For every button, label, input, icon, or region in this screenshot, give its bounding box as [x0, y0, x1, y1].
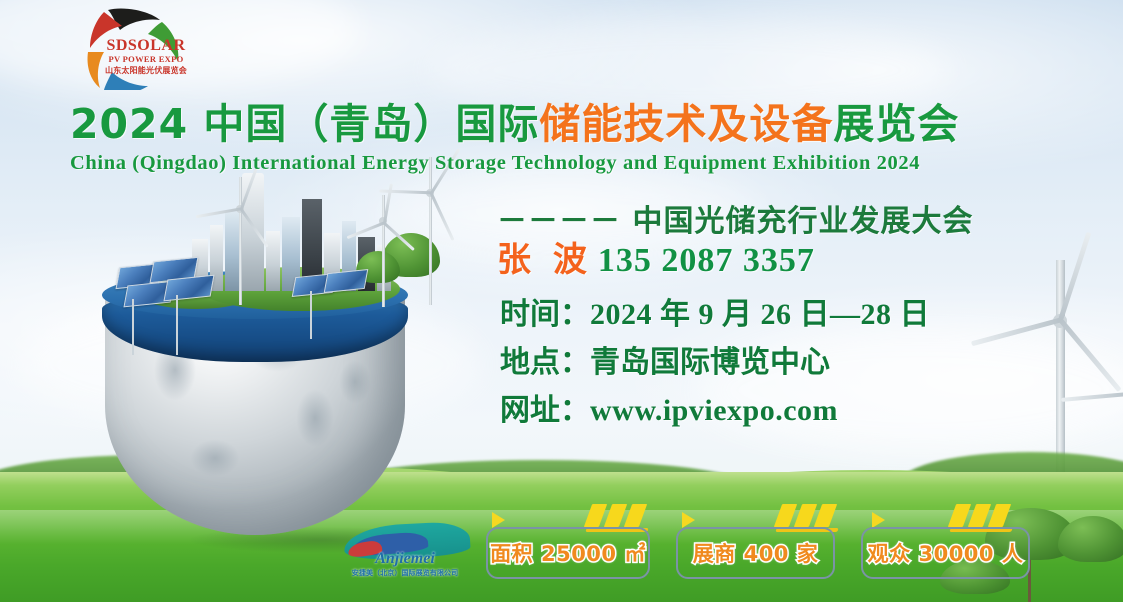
stat-badge-visitors-text: 观众 30000 人: [868, 538, 1024, 568]
anjiemei-logo-name: Anjiemei: [336, 550, 474, 568]
page-title: 2024 中国（青岛）国际储能技术及设备展览会: [70, 104, 959, 145]
sdsolar-logo-chinese: 山东太阳能光伏展览会: [96, 65, 196, 76]
title-part-3: 展览会: [833, 100, 959, 148]
globe-wind-turbine-1: [210, 177, 270, 305]
panel-support: [310, 291, 312, 339]
info-line-website: 网址：www.ipviexpo.com: [500, 396, 838, 426]
info-value-venue: 青岛国际博览中心: [590, 345, 830, 380]
turbine-mast: [239, 177, 242, 305]
mini-solar-panel: [948, 504, 971, 527]
contact-line: 张 波135 2087 3357: [497, 243, 815, 278]
anjiemei-logo[interactable]: Anjiemei 安捷美（北京）国际展览有限公司: [334, 522, 476, 584]
title-part-1: 2024 中国（青岛）国际: [70, 100, 539, 148]
title-part-2: 储能技术及设备: [539, 100, 833, 148]
turbine-blade: [430, 192, 454, 240]
stat-badge-area[interactable]: 面积 25000 ㎡: [486, 527, 650, 579]
mini-solar-panel: [604, 504, 627, 527]
turbine-mast: [429, 157, 432, 305]
info-line-date: 时间：2024 年 9 月 26 日—28 日: [500, 300, 930, 330]
info-label-website: 网址：: [500, 393, 590, 428]
contact-person-name: 张 波: [497, 240, 592, 280]
info-label-venue: 地点：: [500, 345, 590, 380]
mini-solar-panel: [814, 504, 837, 527]
stat-badge-exhibitors-text: 展商 400 家: [693, 538, 818, 568]
mini-solar-panel: [988, 504, 1011, 527]
anjiemei-logo-chinese: 安捷美（北京）国际展览有限公司: [334, 568, 476, 578]
panel-support: [176, 295, 178, 355]
sdsolar-logo[interactable]: SDSOLAR PV POWER EXPO 山东太阳能光伏展览会: [62, 4, 194, 90]
subtitle-conference: －－－－ 中国光储充行业发展大会: [497, 196, 973, 240]
info-label-date: 时间：: [500, 297, 590, 332]
mini-solar-panel: [794, 504, 817, 527]
mini-solar-panel: [774, 504, 797, 527]
arrow-marker-3: [872, 512, 885, 528]
contact-phone-number[interactable]: 135 2087 3357: [598, 242, 815, 279]
stat-badge-exhibitors[interactable]: 展商 400 家: [676, 527, 835, 579]
stat-badge-visitors[interactable]: 观众 30000 人: [861, 527, 1030, 579]
panel-support: [132, 299, 134, 355]
info-value-website[interactable]: www.ipviexpo.com: [590, 394, 838, 427]
arrow-marker-2: [682, 512, 695, 528]
stat-badge-area-text: 面积 25000 ㎡: [490, 538, 646, 568]
mini-solar-panel: [584, 504, 607, 527]
mini-solar-panel: [968, 504, 991, 527]
turbine-blade: [240, 208, 269, 247]
page-title-english: China (Qingdao) International Energy Sto…: [70, 152, 920, 175]
exhibition-promo-banner: SDSOLAR PV POWER EXPO 山东太阳能光伏展览会 2024 中国…: [0, 0, 1123, 602]
info-value-date: 2024 年 9 月 26 日—28 日: [590, 298, 930, 331]
globe-wind-turbine-3: [398, 157, 462, 305]
info-line-venue: 地点：青岛国际博览中心: [500, 348, 830, 378]
earth-globe-graphic: [80, 205, 480, 535]
sdsolar-logo-text: SDSOLAR PV POWER EXPO 山东太阳能光伏展览会: [96, 38, 196, 77]
arrow-marker-1: [492, 512, 505, 528]
sdsolar-logo-main: SDSOLAR: [96, 38, 196, 54]
sdsolar-logo-sub: PV POWER EXPO: [96, 54, 196, 65]
mini-solar-panel: [624, 504, 647, 527]
